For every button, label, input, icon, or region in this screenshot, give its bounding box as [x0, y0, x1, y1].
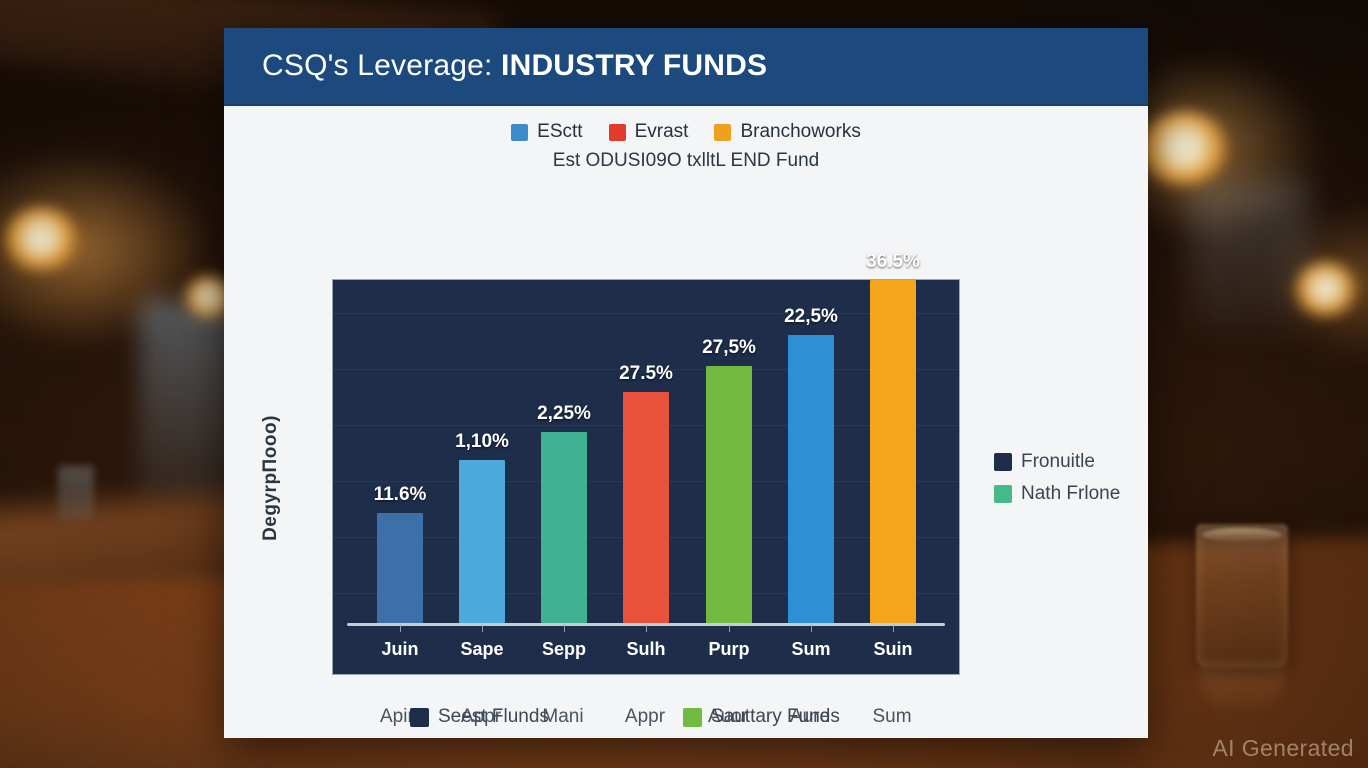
legend-label: Sauttary Funds — [711, 706, 840, 728]
legend-label: Branchoworks — [740, 121, 860, 143]
legend-swatch-icon — [511, 124, 528, 141]
x-axis-tick — [811, 625, 812, 632]
bar-value-label: 11.6% — [374, 484, 427, 506]
legend-label: Evrast — [635, 121, 689, 143]
bottom-legend: Seest Flunds Sauttary Funds Eentiti1600-… — [410, 706, 930, 738]
legend-item[interactable]: Branchoworks — [714, 121, 860, 143]
legend-swatch-icon — [714, 124, 731, 141]
x-axis-tick — [893, 625, 894, 632]
bar[interactable]: 1,10% — [459, 460, 505, 623]
bar-value-label: 27,5% — [702, 337, 756, 359]
bar[interactable]: 27.5% — [623, 392, 669, 623]
x-axis-label: Juin — [360, 639, 440, 660]
x-axis-label: Purp — [689, 639, 769, 660]
bar[interactable]: 27,5% — [706, 366, 752, 623]
chart-card: CSQ's Leverage: INDUSTRY FUNDS ESctt Evr… — [224, 28, 1148, 738]
legend-item[interactable]: Fronuitle — [994, 451, 1120, 473]
page-title-light: CSQ's Leverage: — [262, 49, 501, 82]
bar-value-label: 27.5% — [619, 363, 673, 385]
legend-swatch-icon — [609, 124, 626, 141]
right-legend: Fronuitle Nath Frlone — [994, 451, 1120, 505]
plot-area: 11.6% 1,10% 2,25% 27.5% 27,5% — [332, 279, 960, 675]
legend-item[interactable]: Deoitfrio:ditk5/400% — [683, 737, 930, 738]
page-title: CSQ's Leverage: INDUSTRY FUNDS — [262, 49, 767, 83]
legend-label: Eentiti1600-5/150% — [438, 737, 604, 738]
card-body: ESctt Evrast Branchoworks Est ODUSI09O t… — [224, 106, 1148, 738]
legend-swatch-icon — [410, 708, 429, 727]
legend-item[interactable]: ESctt — [511, 121, 582, 143]
plot-area-wrapper: 11.6% 1,10% 2,25% 27.5% 27,5% — [332, 279, 960, 675]
legend-label: Nath Frlone — [1021, 483, 1120, 505]
bar-value-label: 22,5% — [784, 306, 838, 328]
chart-subtitle: Est ODUSI09O txlltL END Fund — [224, 150, 1148, 172]
x-axis-label: Sepp — [524, 639, 604, 660]
legend-swatch-icon — [683, 708, 702, 727]
legend-item[interactable]: Nath Frlone — [994, 483, 1120, 505]
x-axis-tick — [482, 625, 483, 632]
legend-label: ESctt — [537, 121, 582, 143]
bar[interactable]: 2,25% — [541, 432, 587, 623]
x-axis-tick — [729, 625, 730, 632]
bar-value-label: 2,25% — [537, 403, 591, 425]
bar[interactable]: 11.6% — [377, 513, 423, 623]
x-axis-label: Sulh — [606, 639, 686, 660]
page-title-bold: INDUSTRY FUNDS — [501, 49, 767, 82]
x-axis-label: Sum — [771, 639, 851, 660]
bar[interactable]: 36.5% — [870, 280, 916, 623]
x-axis-tick — [400, 625, 401, 632]
legend-label: Seest Flunds — [438, 706, 549, 728]
bar[interactable]: 22,5% — [788, 335, 834, 623]
legend-item[interactable]: Evrast — [609, 121, 689, 143]
x-axis-tick — [646, 625, 647, 632]
legend-swatch-icon — [994, 485, 1012, 503]
x-axis-label: Sape — [442, 639, 522, 660]
top-legend: ESctt Evrast Branchoworks — [224, 106, 1148, 143]
y-axis-title: DegyrpΠooo) — [260, 415, 282, 541]
legend-item[interactable]: Seest Flunds — [410, 706, 657, 728]
x-axis-tick — [564, 625, 565, 632]
x-axis-label: Suin — [853, 639, 933, 660]
card-header: CSQ's Leverage: INDUSTRY FUNDS — [224, 28, 1148, 106]
legend-item[interactable]: Sauttary Funds — [683, 706, 930, 728]
bar-value-label: 36.5% — [866, 251, 920, 273]
bar-series: 11.6% 1,10% 2,25% 27.5% 27,5% — [333, 288, 959, 623]
legend-item[interactable]: Eentiti1600-5/150% — [410, 737, 657, 738]
legend-label: Deoitfrio:ditk5/400% — [711, 737, 881, 738]
bar-value-label: 1,10% — [455, 431, 509, 453]
legend-label: Fronuitle — [1021, 451, 1095, 473]
ai-generated-watermark: AI Generated — [1212, 735, 1354, 762]
legend-swatch-icon — [994, 453, 1012, 471]
